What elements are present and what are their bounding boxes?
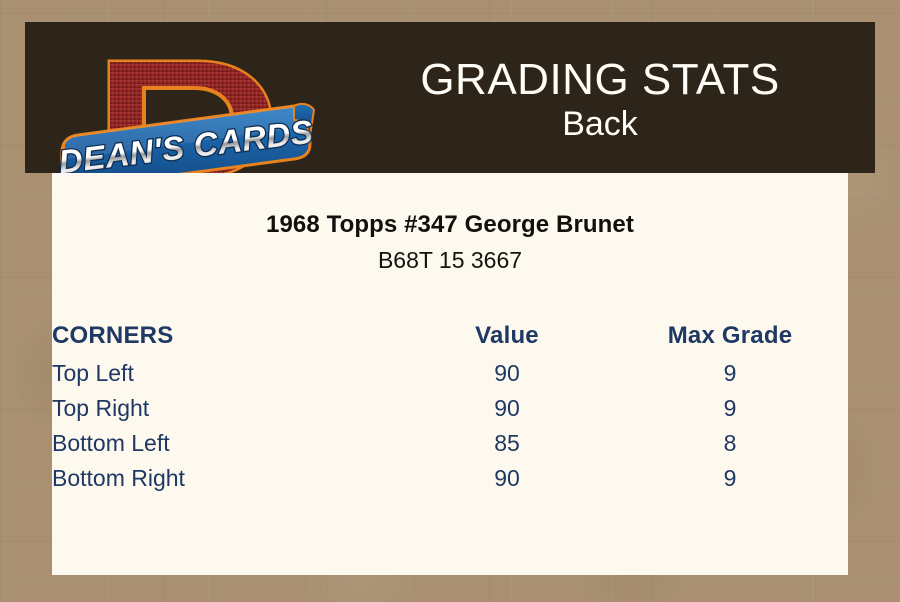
- card-code: B68T 15 3667: [52, 239, 848, 274]
- card-title: 1968 Topps #347 George Brunet: [52, 173, 848, 239]
- content-panel: 1968 Topps #347 George Brunet B68T 15 36…: [52, 173, 848, 575]
- column-header-value: Value: [402, 316, 612, 356]
- deans-cards-logo-svg: DEAN'S CARDS: [58, 48, 320, 173]
- row-max-grade: 8: [612, 426, 848, 461]
- table-row: Bottom Right 90 9: [52, 461, 848, 496]
- section-header-corners: CORNERS: [52, 316, 402, 356]
- grading-stats-table: CORNERS Value Max Grade Top Left 90 9 To…: [52, 316, 848, 496]
- page-title: GRADING STATS: [420, 58, 779, 103]
- table-header-row: CORNERS Value Max Grade: [52, 316, 848, 356]
- row-value: 85: [402, 426, 612, 461]
- row-max-grade: 9: [612, 461, 848, 496]
- page-root: DEAN'S CARDS GRADING STATS Back 1968 Top…: [0, 0, 900, 602]
- deans-cards-logo: DEAN'S CARDS: [58, 48, 320, 173]
- row-label: Bottom Right: [52, 461, 402, 496]
- row-value: 90: [402, 461, 612, 496]
- row-value: 90: [402, 391, 612, 426]
- row-label: Bottom Left: [52, 426, 402, 461]
- table-row: Top Left 90 9: [52, 356, 848, 391]
- row-label: Top Right: [52, 391, 402, 426]
- row-value: 90: [402, 356, 612, 391]
- column-header-max-grade: Max Grade: [612, 316, 848, 356]
- table-row: Bottom Left 85 8: [52, 426, 848, 461]
- table-row: Top Right 90 9: [52, 391, 848, 426]
- row-label: Top Left: [52, 356, 402, 391]
- row-max-grade: 9: [612, 356, 848, 391]
- header-title-block: GRADING STATS Back: [325, 22, 875, 173]
- header-bar: DEAN'S CARDS GRADING STATS Back: [25, 22, 875, 173]
- page-subtitle: Back: [562, 103, 638, 146]
- row-max-grade: 9: [612, 391, 848, 426]
